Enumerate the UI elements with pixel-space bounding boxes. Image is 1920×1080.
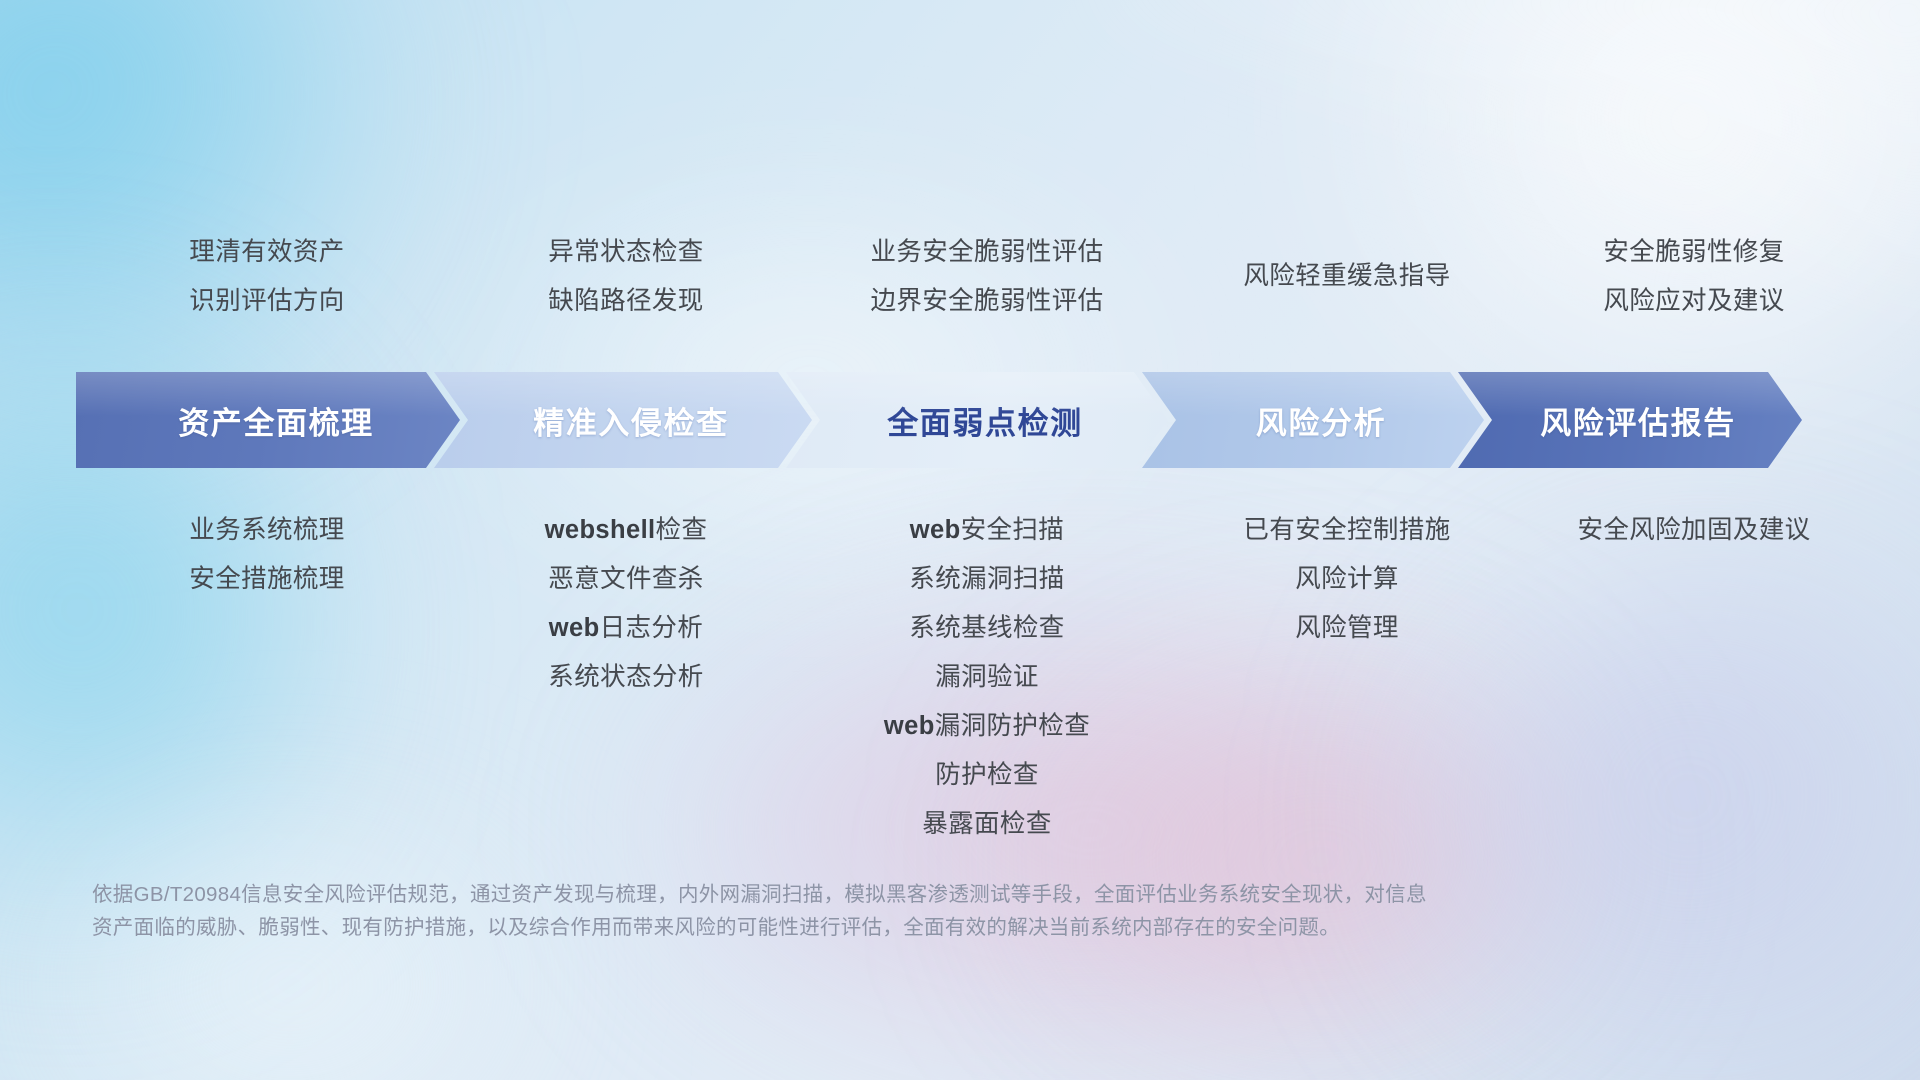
input-label: 理清有效资产: [189, 228, 344, 277]
input-label: 异常状态检查: [548, 228, 703, 277]
stage-chevron-label: 风险分析: [1240, 398, 1386, 443]
stage-outputs-row: 业务系统梳理 安全措施梳理 webshell检查 恶意文件查杀 web日志分析 …: [88, 506, 1862, 849]
input-label: 边界安全脆弱性评估: [870, 277, 1103, 326]
footer-line-1: 依据GB/T20984信息安全风险评估规范，通过资产发现与梳理，内外网漏洞扫描，…: [92, 878, 1732, 911]
output-label: 风险管理: [1295, 604, 1399, 653]
output-label: 防护检查: [935, 751, 1039, 800]
stage-inputs-risk-report: 安全脆弱性修复 风险应对及建议: [1526, 228, 1862, 326]
output-label: 恶意文件查杀: [548, 555, 703, 604]
stage-outputs-asset-inventory: 业务系统梳理 安全措施梳理: [88, 506, 446, 604]
stage-inputs-intrusion-check: 异常状态检查 缺陷路径发现: [446, 228, 806, 326]
output-label: 暴露面检查: [922, 800, 1052, 849]
output-label: 安全措施梳理: [189, 555, 344, 604]
stage-inputs-row: 理清有效资产 识别评估方向 异常状态检查 缺陷路径发现 业务安全脆弱性评估 边界…: [88, 228, 1862, 326]
output-label: 漏洞验证: [935, 653, 1039, 702]
stage-inputs-weakness-detection: 业务安全脆弱性评估 边界安全脆弱性评估: [806, 228, 1168, 326]
stage-chevron-intrusion-check[interactable]: 精准入侵检查: [434, 372, 812, 468]
output-label: 安全风险加固及建议: [1577, 506, 1810, 555]
output-label: 系统漏洞扫描: [909, 555, 1064, 604]
output-label: webshell检查: [545, 506, 708, 555]
input-label: 缺陷路径发现: [548, 277, 703, 326]
output-label: 业务系统梳理: [189, 506, 344, 555]
stage-outputs-weakness-detection: web安全扫描 系统漏洞扫描 系统基线检查 漏洞验证 web漏洞防护检查 防护检…: [806, 506, 1168, 849]
process-diagram: 理清有效资产 识别评估方向 异常状态检查 缺陷路径发现 业务安全脆弱性评估 边界…: [0, 0, 1920, 1080]
stage-chevron-label: 风险评估报告: [1524, 398, 1736, 443]
footer-line-2: 资产面临的威胁、脆弱性、现有防护措施，以及综合作用而带来风险的可能性进行评估，全…: [92, 911, 1732, 944]
stage-inputs-risk-analysis: 风险轻重缓急指导: [1168, 228, 1526, 301]
output-label: 已有安全控制措施: [1243, 506, 1450, 555]
stage-chevron-asset-inventory[interactable]: 资产全面梳理: [76, 372, 460, 468]
output-label: 系统状态分析: [548, 653, 703, 702]
stage-outputs-risk-analysis: 已有安全控制措施 风险计算 风险管理: [1168, 506, 1526, 653]
input-label: 识别评估方向: [189, 277, 344, 326]
footer-description: 依据GB/T20984信息安全风险评估规范，通过资产发现与梳理，内外网漏洞扫描，…: [92, 878, 1732, 944]
output-label: 系统基线检查: [909, 604, 1064, 653]
stage-outputs-intrusion-check: webshell检查 恶意文件查杀 web日志分析 系统状态分析: [446, 506, 806, 702]
output-label: web漏洞防护检查: [884, 702, 1090, 751]
output-label: web日志分析: [549, 604, 703, 653]
output-label: web安全扫描: [910, 506, 1064, 555]
stage-chevron-risk-analysis[interactable]: 风险分析: [1142, 372, 1484, 468]
input-label: 安全脆弱性修复: [1603, 228, 1784, 277]
output-label: 风险计算: [1295, 555, 1399, 604]
stage-chevron-label: 精准入侵检查: [517, 398, 729, 443]
stage-inputs-asset-inventory: 理清有效资产 识别评估方向: [88, 228, 446, 326]
stage-chevron-label: 资产全面梳理: [162, 398, 374, 443]
stage-chevron-band: 资产全面梳理 精准入侵检查 全面弱点检测 风险分析 风险评估报告: [76, 372, 1840, 468]
stage-chevron-weakness-detection[interactable]: 全面弱点检测: [786, 372, 1168, 468]
input-label: 业务安全脆弱性评估: [870, 228, 1103, 277]
input-label: 风险轻重缓急指导: [1243, 252, 1450, 301]
input-label: 风险应对及建议: [1603, 277, 1784, 326]
stage-chevron-risk-report[interactable]: 风险评估报告: [1458, 372, 1802, 468]
stage-outputs-risk-report: 安全风险加固及建议: [1526, 506, 1862, 555]
stage-chevron-label: 全面弱点检测: [871, 398, 1083, 443]
